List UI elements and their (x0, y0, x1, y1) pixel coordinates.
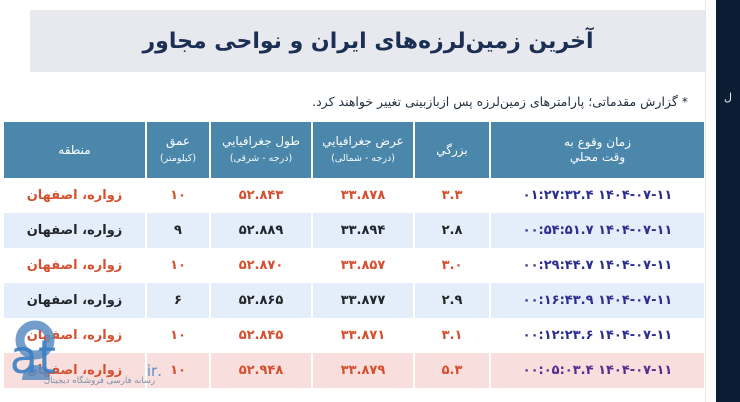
column-header-time-sub: وقت محلي (495, 150, 700, 165)
cell-longitude: ۵۲.۸۴۳ (211, 178, 311, 213)
cell-time: ۱۴۰۴-۰۷-۱۱ ۰۰:۲۹:۴۴.۷ (491, 248, 704, 283)
page-title: آخرین زمین‌لرزه‌های ایران و نواحی مجاور (142, 29, 593, 54)
cell-latitude: ۳۳.۸۷۹ (313, 353, 413, 388)
cell-magnitude: ۳.۰ (415, 248, 489, 283)
column-header-magnitude-label: بزرگي (419, 143, 485, 158)
cell-time: ۱۴۰۴-۰۷-۱۱ ۰۰:۵۴:۵۱.۷ (491, 213, 704, 248)
cell-depth: ۱۰ (147, 318, 209, 353)
column-header-depth-sub: (کیلومتر) (151, 151, 205, 166)
table-row[interactable]: ۱۴۰۴-۰۷-۱۱ ۰۰:۲۹:۴۴.۷۳.۰۳۳.۸۵۷۵۲.۸۷۰۱۰زو… (4, 248, 704, 283)
column-header-depth-main: عمق (151, 134, 205, 149)
title-band: آخرین زمین‌لرزه‌های ایران و نواحی مجاور (30, 10, 706, 72)
cell-region: زواره، اصفهان (4, 318, 145, 353)
cell-depth: ۹ (147, 213, 209, 248)
cell-latitude: ۳۳.۸۹۴ (313, 213, 413, 248)
cell-region: زواره، اصفهان (4, 353, 145, 388)
column-header-longitude-sub: (درجه - شرقی) (215, 151, 307, 166)
cell-region: زواره، اصفهان (4, 248, 145, 283)
table-row[interactable]: ۱۴۰۴-۰۷-۱۱ ۰۰:۰۵:۰۳.۴۵.۳۳۳.۸۷۹۵۲.۹۴۸۱۰زو… (4, 353, 704, 388)
cell-longitude: ۵۲.۸۷۰ (211, 248, 311, 283)
cell-latitude: ۳۳.۸۷۸ (313, 178, 413, 213)
table-row[interactable]: ۱۴۰۴-۰۷-۱۱ ۰۰:۱۶:۴۳.۹۲.۹۳۳.۸۷۷۵۲.۸۶۵۶زوا… (4, 283, 704, 318)
column-header-latitude-main: عرض جغرافيايي (317, 134, 409, 149)
table-header: زمان وقوع به وقت محلي بزرگي عرض جغرافياي… (4, 122, 704, 178)
cell-longitude: ۵۲.۸۸۹ (211, 213, 311, 248)
disclaimer-note: * گزارش مقدماتی؛ پارامترهای زمین‌لرزه پس… (312, 94, 688, 109)
earthquake-table: زمان وقوع به وقت محلي بزرگي عرض جغرافياي… (2, 122, 706, 388)
column-header-latitude-sub: (درجه - شمالی) (317, 151, 409, 166)
page-content: آخرین زمین‌لرزه‌های ایران و نواحی مجاور … (0, 0, 706, 402)
disclaimer-note-row: * گزارش مقدماتی؛ پارامترهای زمین‌لرزه پس… (22, 88, 706, 114)
cell-depth: ۱۰ (147, 178, 209, 213)
cell-longitude: ۵۲.۸۴۵ (211, 318, 311, 353)
page-gutter (705, 0, 716, 402)
column-header-time[interactable]: زمان وقوع به وقت محلي (491, 122, 704, 178)
cell-magnitude: ۵.۳ (415, 353, 489, 388)
table-row[interactable]: ۱۴۰۴-۰۷-۱۱ ۰۱:۲۷:۳۲.۴۳.۳۳۳.۸۷۸۵۲.۸۴۳۱۰زو… (4, 178, 704, 213)
cell-magnitude: ۳.۱ (415, 318, 489, 353)
table-row[interactable]: ۱۴۰۴-۰۷-۱۱ ۰۰:۱۲:۲۳.۶۳.۱۳۳.۸۷۱۵۲.۸۴۵۱۰زو… (4, 318, 704, 353)
column-header-time-main: زمان وقوع به (495, 135, 700, 150)
table-header-row: زمان وقوع به وقت محلي بزرگي عرض جغرافياي… (4, 122, 704, 178)
column-header-magnitude[interactable]: بزرگي (415, 122, 489, 178)
cell-time: ۱۴۰۴-۰۷-۱۱ ۰۰:۰۵:۰۳.۴ (491, 353, 704, 388)
cell-latitude: ۳۳.۸۷۷ (313, 283, 413, 318)
cell-magnitude: ۳.۳ (415, 178, 489, 213)
cell-time: ۱۴۰۴-۰۷-۱۱ ۰۱:۲۷:۳۲.۴ (491, 178, 704, 213)
column-header-region-label: منطقه (8, 143, 141, 158)
cell-latitude: ۳۳.۸۷۱ (313, 318, 413, 353)
column-header-longitude[interactable]: طول جغرافيايي (درجه - شرقی) (211, 122, 311, 178)
cell-magnitude: ۲.۹ (415, 283, 489, 318)
column-header-depth[interactable]: عمق (کیلومتر) (147, 122, 209, 178)
cell-region: زواره، اصفهان (4, 178, 145, 213)
cell-time: ۱۴۰۴-۰۷-۱۱ ۰۰:۱۶:۴۳.۹ (491, 283, 704, 318)
cell-longitude: ۵۲.۹۴۸ (211, 353, 311, 388)
table-body: ۱۴۰۴-۰۷-۱۱ ۰۱:۲۷:۳۲.۴۳.۳۳۳.۸۷۸۵۲.۸۴۳۱۰زو… (4, 178, 704, 388)
cell-depth: ۱۰ (147, 248, 209, 283)
cell-region: زواره، اصفهان (4, 283, 145, 318)
cell-depth: ۱۰ (147, 353, 209, 388)
cell-region: زواره، اصفهان (4, 213, 145, 248)
side-strip-mark: ل (720, 92, 736, 104)
column-header-longitude-main: طول جغرافيايي (215, 134, 307, 149)
cell-depth: ۶ (147, 283, 209, 318)
cell-time: ۱۴۰۴-۰۷-۱۱ ۰۰:۱۲:۲۳.۶ (491, 318, 704, 353)
cell-magnitude: ۲.۸ (415, 213, 489, 248)
table-row[interactable]: ۱۴۰۴-۰۷-۱۱ ۰۰:۵۴:۵۱.۷۲.۸۳۳.۸۹۴۵۲.۸۸۹۹زوا… (4, 213, 704, 248)
cell-longitude: ۵۲.۸۶۵ (211, 283, 311, 318)
cell-latitude: ۳۳.۸۵۷ (313, 248, 413, 283)
browser-side-strip (716, 0, 740, 402)
column-header-latitude[interactable]: عرض جغرافيايي (درجه - شمالی) (313, 122, 413, 178)
column-header-region[interactable]: منطقه (4, 122, 145, 178)
